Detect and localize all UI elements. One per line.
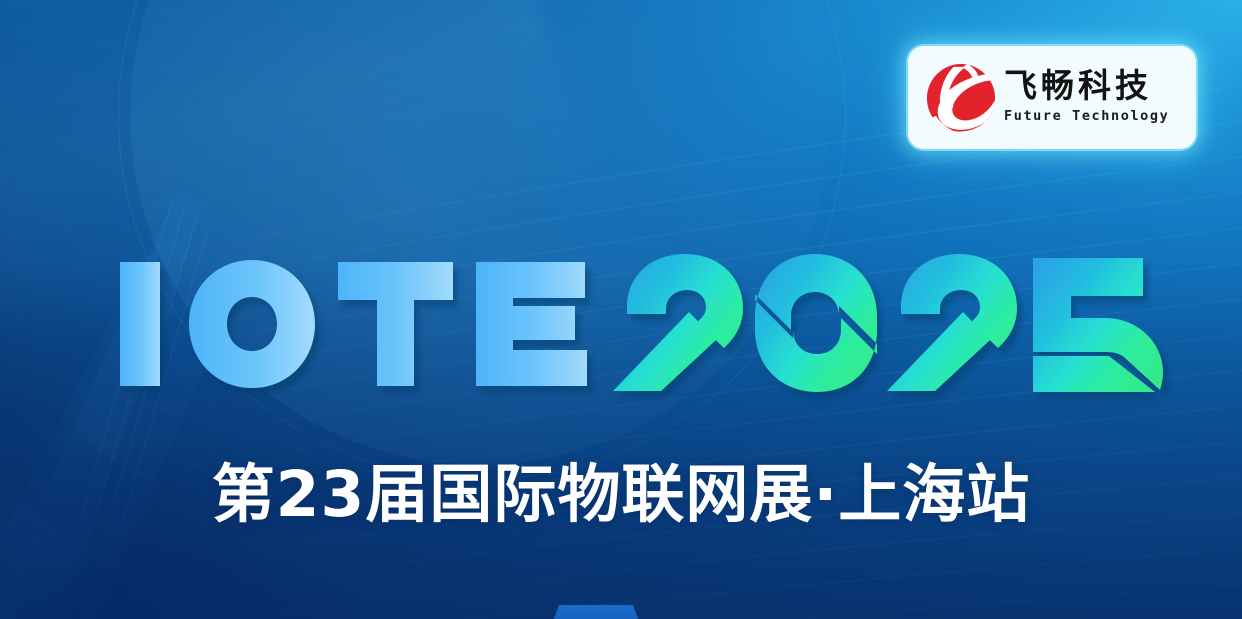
sponsor-logo-wordmark: 飞畅科技 Future Technology	[1004, 69, 1169, 127]
sponsor-name-cn: 飞畅科技	[1004, 69, 1169, 104]
headline-brand-group	[120, 260, 587, 388]
sponsor-logo-badge[interactable]: 飞畅科技 Future Technology	[908, 46, 1196, 149]
headline-iote-2025	[115, 252, 1095, 400]
iote-2025-banner: 飞畅科技 Future Technology	[0, 0, 1242, 619]
headline-year-group	[613, 254, 1163, 392]
sponsor-name-en: Future Technology	[1004, 108, 1169, 124]
event-subtitle: 第23届国际物联网展·上海站	[0, 455, 1242, 535]
background-bottom-chip	[554, 605, 638, 619]
feichang-swoosh-icon	[924, 61, 998, 135]
